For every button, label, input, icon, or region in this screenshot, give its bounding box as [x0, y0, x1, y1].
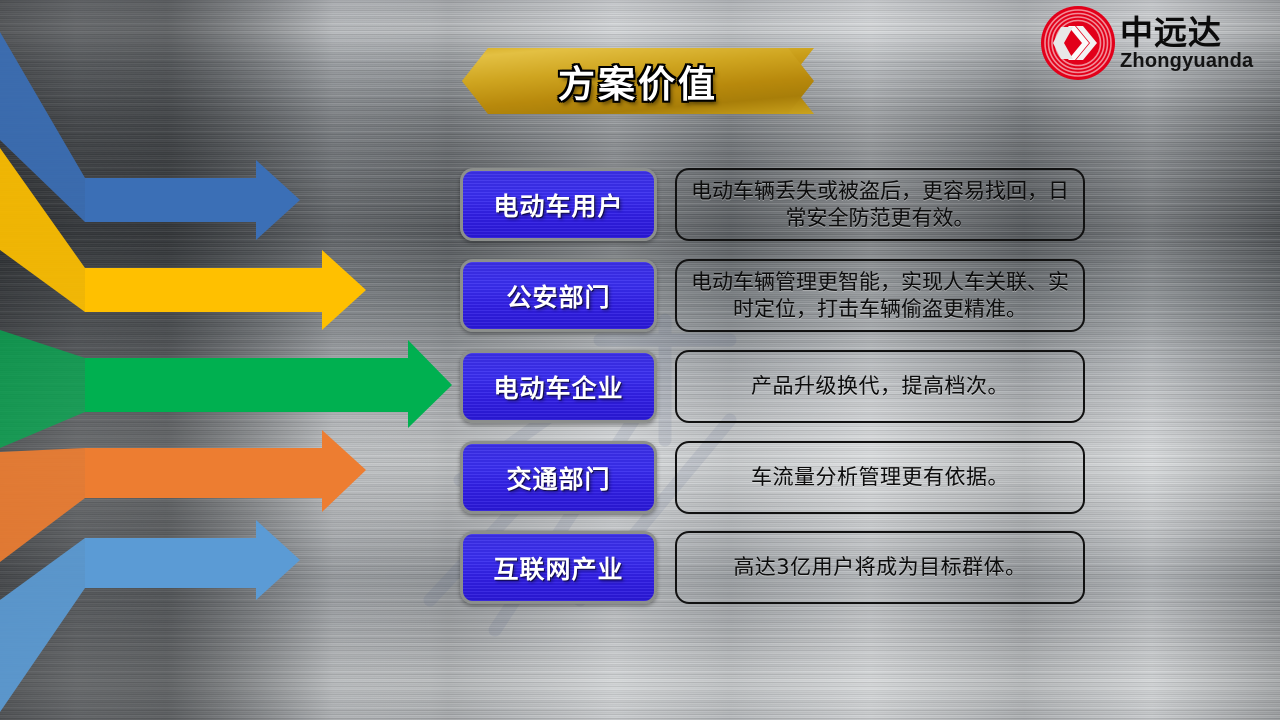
tag-label-0: 电动车用户 [493, 187, 623, 223]
desc-box-3: 车流量分析管理更有依据。 [675, 441, 1085, 514]
tag-label-2: 电动车企业 [493, 369, 623, 405]
desc-box-4: 高达3亿用户将成为目标群体。 [675, 531, 1085, 604]
desc-box-0: 电动车辆丢失或被盗后，更容易找回，日常安全防范更有效。 [675, 168, 1085, 241]
tag-button-2[interactable]: 电动车企业 [460, 350, 657, 423]
desc-text-1: 电动车辆管理更智能，实现人车关联、实时定位，打击车辆偷盗更精准。 [685, 269, 1075, 323]
tag-label-4: 互联网产业 [493, 550, 623, 586]
desc-text-4: 高达3亿用户将成为目标群体。 [733, 554, 1026, 581]
logo-text-block: 中远达 Zhongyuanda [1120, 16, 1253, 71]
row-4: 互联网产业 高达3亿用户将成为目标群体。 [460, 531, 1085, 604]
row-2: 电动车企业 产品升级换代，提高档次。 [460, 350, 1085, 423]
value-rows: 电动车用户 电动车辆丢失或被盗后，更容易找回，日常安全防范更有效。 公安部门 电… [0, 0, 1280, 720]
tag-button-4[interactable]: 互联网产业 [460, 531, 657, 604]
tag-label-1: 公安部门 [506, 278, 610, 314]
tag-button-3[interactable]: 交通部门 [460, 441, 657, 514]
tag-label-3: 交通部门 [506, 460, 610, 496]
row-0: 电动车用户 电动车辆丢失或被盗后，更容易找回，日常安全防范更有效。 [460, 168, 1085, 241]
row-1: 公安部门 电动车辆管理更智能，实现人车关联、实时定位，打击车辆偷盗更精准。 [460, 259, 1085, 332]
logo-mark [1040, 5, 1116, 81]
desc-text-3: 车流量分析管理更有依据。 [751, 464, 1009, 491]
row-3: 交通部门 车流量分析管理更有依据。 [460, 441, 1085, 514]
tag-button-1[interactable]: 公安部门 [460, 259, 657, 332]
slide-canvas: 方案价值 电动车用户 电动车辆丢失或被盗后，更容易找回，日常安全防范更有效。 公… [0, 0, 1280, 720]
desc-box-1: 电动车辆管理更智能，实现人车关联、实时定位，打击车辆偷盗更精准。 [675, 259, 1085, 332]
desc-text-2: 产品升级换代，提高档次。 [751, 373, 1009, 400]
logo-name-cn: 中远达 [1120, 16, 1253, 49]
logo-name-en: Zhongyuanda [1120, 51, 1253, 71]
company-logo: 中远达 Zhongyuanda [1040, 2, 1272, 84]
desc-box-2: 产品升级换代，提高档次。 [675, 350, 1085, 423]
tag-button-0[interactable]: 电动车用户 [460, 168, 657, 241]
desc-text-0: 电动车辆丢失或被盗后，更容易找回，日常安全防范更有效。 [685, 178, 1075, 232]
logo-circle-icon [1040, 5, 1116, 81]
